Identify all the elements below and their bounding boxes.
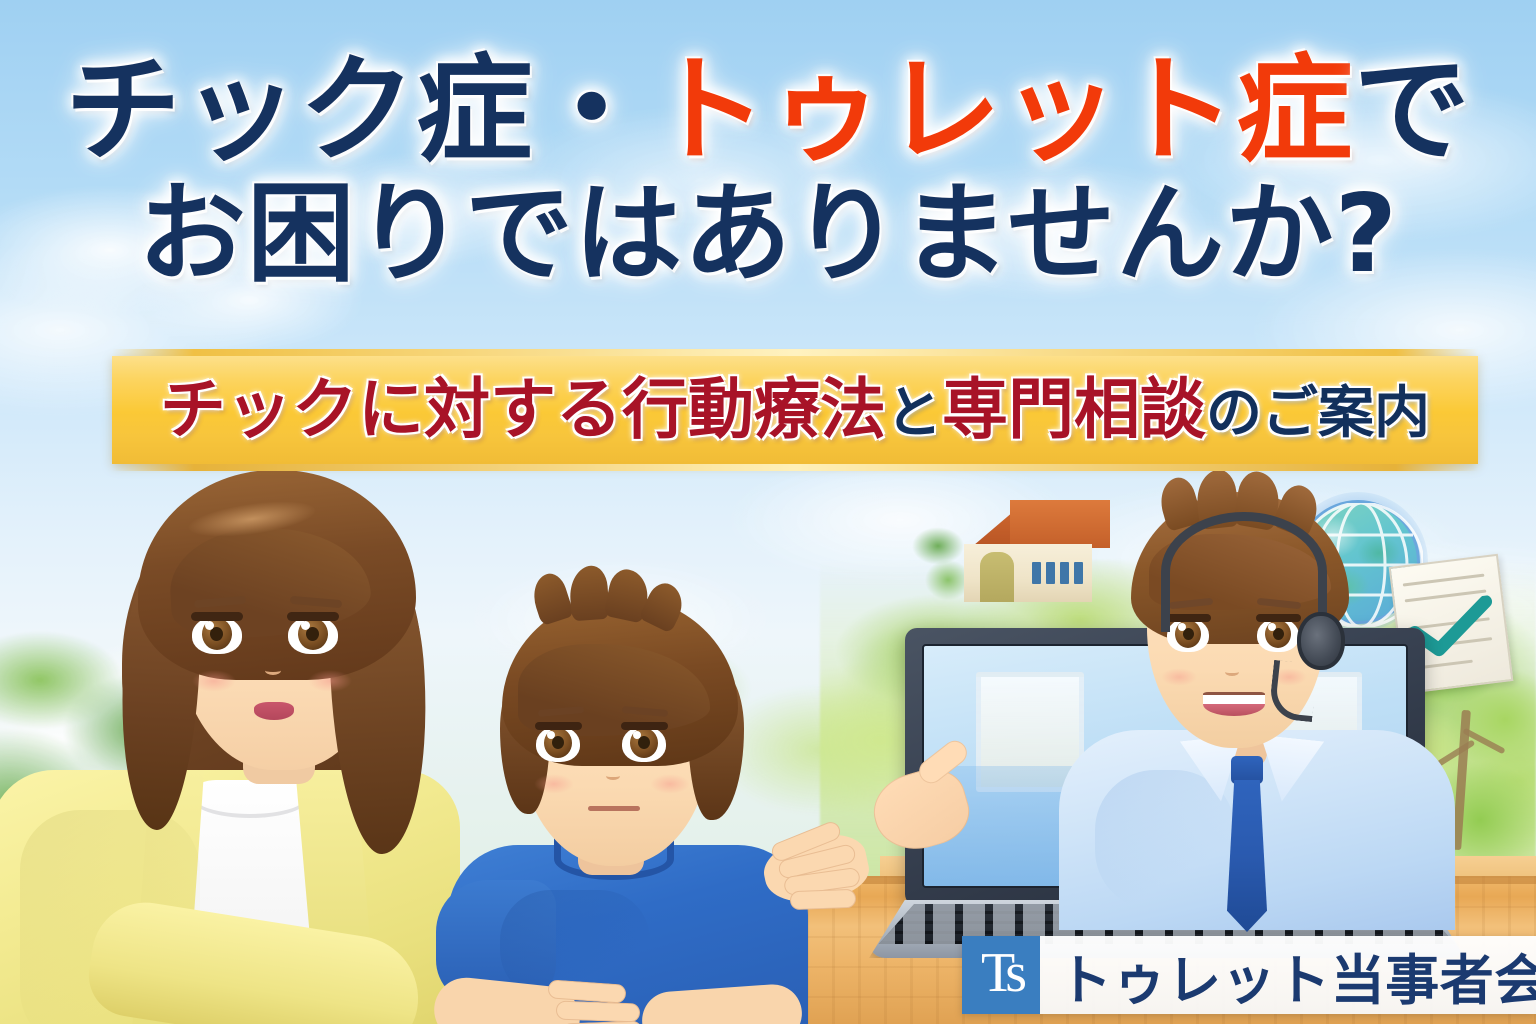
subtitle-banner: チックに対する行動療法と専門相談のご案内 bbox=[112, 356, 1478, 464]
counselor-necktie bbox=[1227, 780, 1267, 932]
headline-block: チック症・トゥレット症で お困りではありませんか? bbox=[0, 52, 1536, 290]
house-window bbox=[1060, 562, 1069, 584]
counselor-smile bbox=[1203, 692, 1265, 716]
house-door bbox=[980, 552, 1014, 602]
organization-name: トゥレット当事者会 bbox=[1040, 936, 1536, 1014]
headset-icon bbox=[1161, 512, 1327, 632]
counselor-character bbox=[1075, 500, 1435, 920]
boy-character bbox=[430, 590, 830, 1024]
logo-mark-text: Ts bbox=[981, 945, 1021, 1005]
organization-logo-bar[interactable]: Ts トゥレット当事者会 bbox=[962, 936, 1536, 1014]
headset-earcup bbox=[1297, 612, 1345, 670]
boy-mouth bbox=[588, 806, 640, 811]
subtitle-text: チックに対する行動療法と専門相談のご案内 bbox=[160, 377, 1430, 443]
headline-line1-part1: チック症・ bbox=[65, 43, 651, 178]
logo-mark: Ts bbox=[962, 936, 1040, 1014]
mother-hand-on-shoulder bbox=[760, 830, 890, 908]
boy-hands bbox=[548, 972, 698, 1024]
poster-canvas: チック症・トゥレット症で お困りではありませんか? チックに対する行動療法と専門… bbox=[0, 0, 1536, 1024]
headline-line-1: チック症・トゥレット症で bbox=[0, 52, 1536, 170]
headline-line1-part2: トゥレット症 bbox=[651, 43, 1354, 178]
subtitle-part-navy-1: と bbox=[886, 381, 942, 446]
mother-mouth bbox=[254, 702, 294, 720]
counselor-tie-knot bbox=[1231, 756, 1263, 784]
subtitle-part-red-2: 専門相談 bbox=[942, 371, 1206, 448]
subtitle-part-red: チックに対する行動療法 bbox=[160, 371, 886, 448]
headline-line1-part3: で bbox=[1354, 43, 1471, 178]
subtitle-part-navy-2: のご案内 bbox=[1206, 381, 1430, 446]
headline-line-2: お困りではありませんか? bbox=[0, 180, 1536, 290]
house-window bbox=[1032, 562, 1041, 584]
house-window bbox=[1046, 562, 1055, 584]
